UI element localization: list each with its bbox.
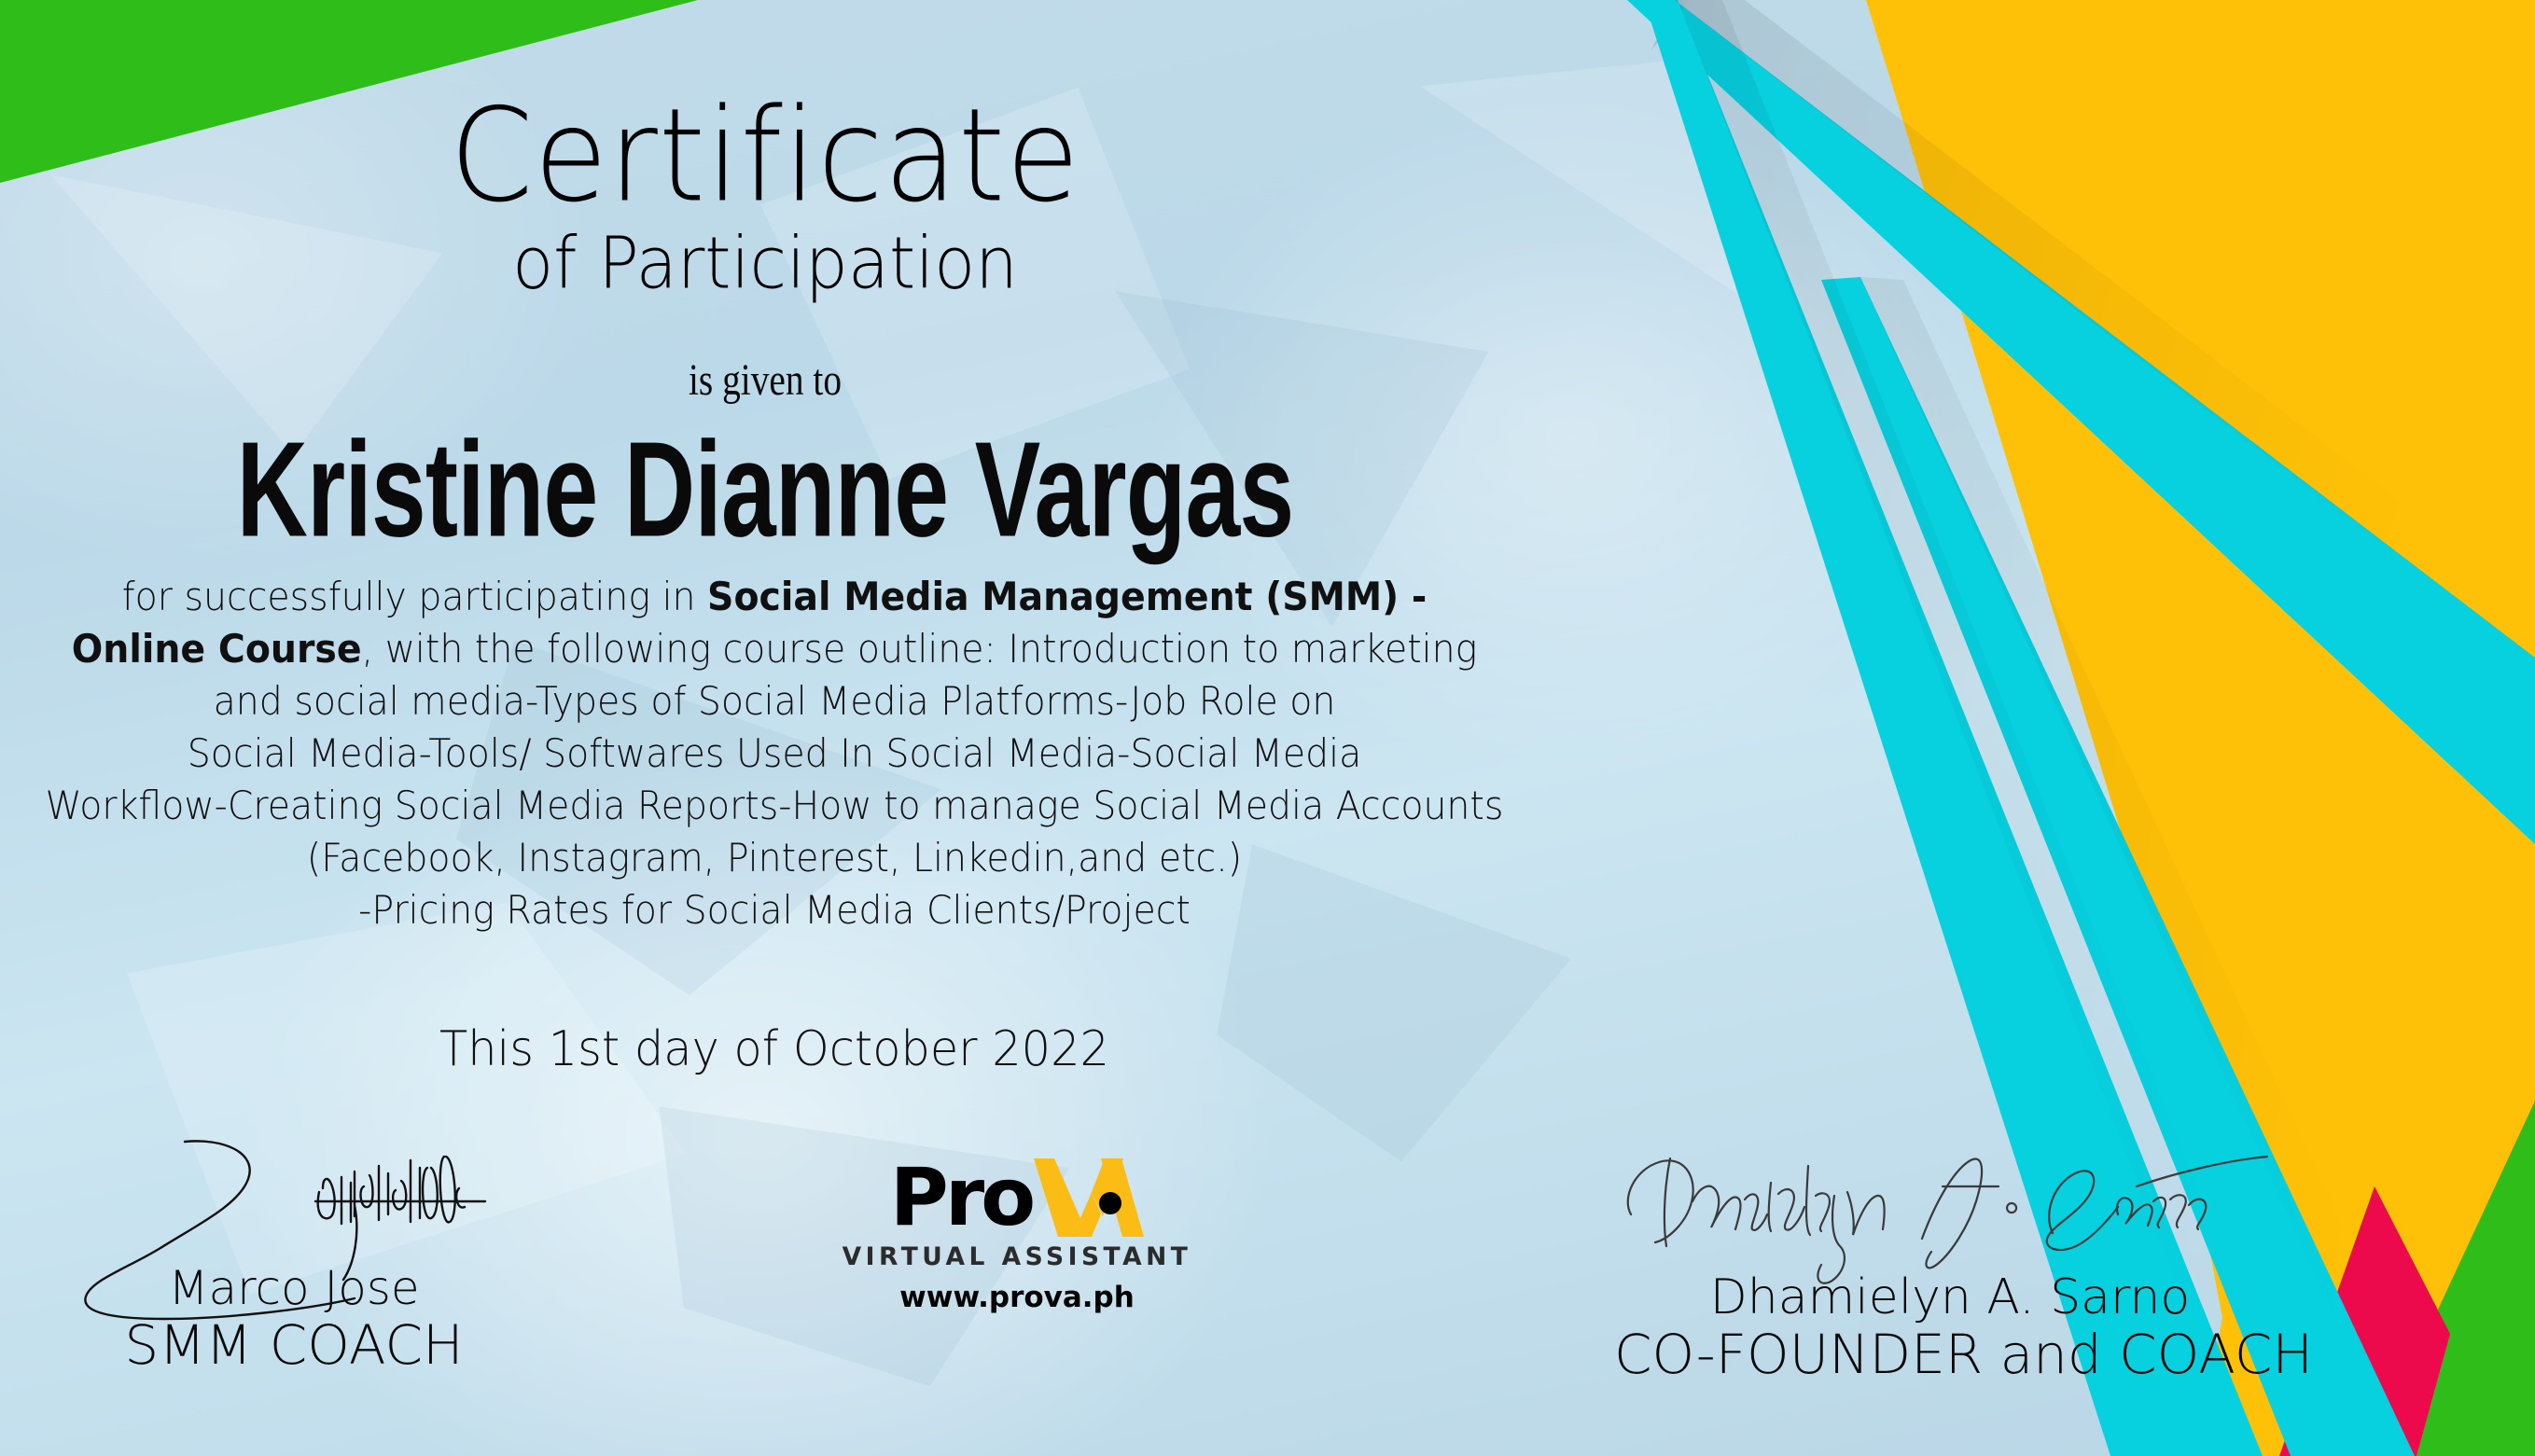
logo-wordmark: Pro <box>821 1155 1213 1241</box>
signature-role-left: SMM COACH <box>75 1315 513 1375</box>
logo-website-url: www.prova.ph <box>821 1281 1213 1314</box>
body-emphasis: Social Media Management (SMM) - <box>707 574 1427 619</box>
prova-logo: Pro VIRTUAL ASSISTANT www.prova.ph <box>821 1155 1213 1314</box>
body-segment: Social Media-Tools/ Softwares Used In So… <box>188 730 1361 776</box>
signature-role-right: CO-FOUNDER and COACH <box>1614 1324 2286 1384</box>
certificate-canvas: Certificate of Participation is given to… <box>0 0 2535 1456</box>
signature-mark-right <box>1614 1149 2286 1270</box>
given-to-label: is given to <box>138 354 1393 406</box>
body-line: and social media-Types of Social Media P… <box>39 675 1511 728</box>
body-line: -Pricing Rates for Social Media Clients/… <box>39 884 1511 936</box>
logo-text-pro: Pro <box>890 1155 1033 1241</box>
date-line: This 1st day of October 2022 <box>39 1021 1511 1077</box>
body-segment: Workflow-Creating Social Media Reports-H… <box>46 783 1504 828</box>
certificate-title-block: Certificate of Participation <box>0 97 1530 297</box>
body-line: for successfully participating in Social… <box>39 571 1511 623</box>
signature-block-left: Marco Jose SMM COACH <box>75 1140 513 1375</box>
page-title: Certificate <box>0 92 1530 221</box>
body-segment: and social media-Types of Social Media P… <box>214 678 1336 724</box>
signature-name-left: Marco Jose <box>75 1261 513 1315</box>
body-emphasis: Online Course <box>72 626 362 672</box>
body-segment: for successfully participating in <box>122 574 707 619</box>
body-segment: (Facebook, Instagram, Pinterest, Linkedi… <box>307 835 1242 881</box>
recipient-name: Kristine Dianne Vargas <box>153 418 1377 562</box>
signature-mark-left <box>75 1140 513 1261</box>
body-line: (Facebook, Instagram, Pinterest, Linkedi… <box>39 832 1511 884</box>
body-line: Social Media-Tools/ Softwares Used In So… <box>39 728 1511 780</box>
body-paragraph: for successfully participating in Social… <box>39 571 1511 936</box>
body-segment: , with the following course outline: Int… <box>362 626 1478 672</box>
signature-block-right: Dhamielyn A. Sarno CO-FOUNDER and COACH <box>1614 1149 2286 1384</box>
body-line: Online Course, with the following course… <box>39 623 1511 675</box>
logo-mark-va <box>1034 1155 1144 1241</box>
page-subtitle: of Participation <box>0 228 1530 298</box>
body-line: Workflow-Creating Social Media Reports-H… <box>39 780 1511 832</box>
logo-tagline: VIRTUAL ASSISTANT <box>821 1242 1213 1271</box>
signature-name-right: Dhamielyn A. Sarno <box>1614 1270 2286 1324</box>
body-segment: -Pricing Rates for Social Media Clients/… <box>358 887 1191 933</box>
